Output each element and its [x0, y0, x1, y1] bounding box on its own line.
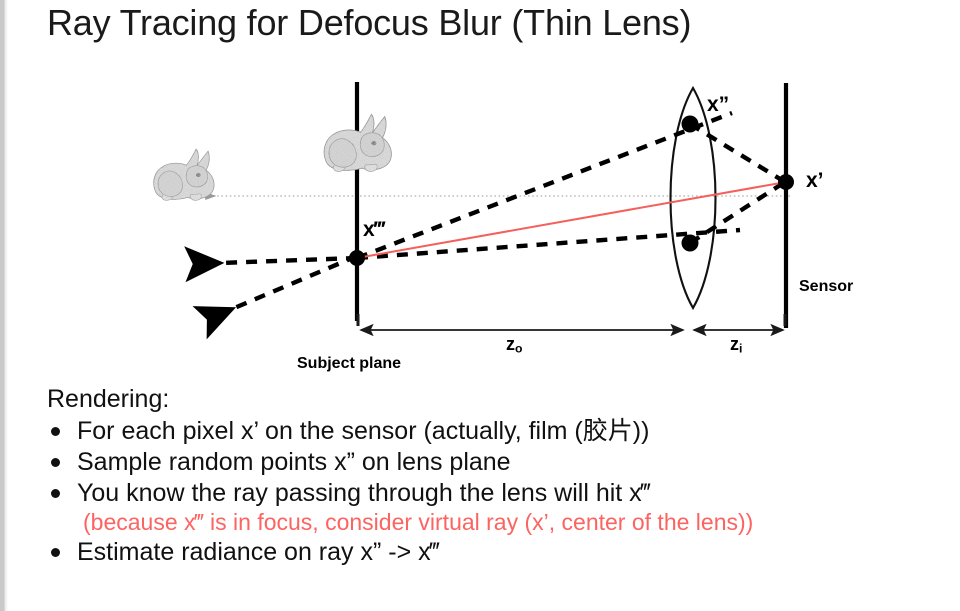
label-x-prime: x’ [806, 170, 824, 191]
label-z-image-subscript: i [739, 342, 742, 356]
virtual-ray-red [357, 182, 786, 258]
bullet-dot-icon [51, 458, 60, 467]
label-z-image: zi [730, 335, 742, 355]
bunny-in-focus [324, 114, 391, 171]
list-item-text: You know the ray passing through the len… [77, 479, 651, 507]
list-item-text: Sample random points x” on lens plane [77, 448, 511, 476]
label-subject-plane: Subject plane [297, 356, 401, 372]
label-z-image-base: z [730, 334, 739, 354]
dashed-ray-focus-to-upper-lens [357, 113, 732, 258]
list-item-note: (because x‴ is in focus, consider virtua… [77, 508, 947, 536]
bullet-dot-icon [51, 489, 60, 498]
slide-canvas: Ray Tracing for Defocus Blur (Thin Lens) [0, 0, 960, 611]
bullet-dot-icon [51, 427, 60, 436]
lens-sample-point-lower [682, 235, 699, 252]
dashed-ray-extension-left-lower [232, 256, 357, 309]
slide-left-edge-strip [0, 0, 8, 611]
label-x-triple-prime: x‴ [363, 219, 385, 240]
label-x-double-prime: x” [707, 94, 729, 115]
bullet-list: For each pixel x’ on the sensor (actuall… [47, 416, 947, 567]
dashed-ray-extension-left-upper [220, 258, 357, 263]
list-item: You know the ray passing through the len… [47, 478, 947, 536]
dashed-ray-lower-to-sensor [690, 182, 785, 243]
page-title: Ray Tracing for Defocus Blur (Thin Lens) [47, 2, 691, 44]
focus-point [349, 250, 365, 266]
label-sensor: Sensor [799, 279, 853, 295]
label-z-object-subscript: o [515, 342, 522, 356]
list-item: Estimate radiance on ray x” -> x‴ [47, 537, 947, 567]
label-z-object: zo [506, 335, 522, 355]
list-item-text: Estimate radiance on ray x” -> x‴ [77, 538, 439, 566]
lens-ellipse [671, 88, 716, 308]
list-item: For each pixel x’ on the sensor (actuall… [47, 416, 947, 446]
label-z-object-base: z [506, 334, 515, 354]
rendering-heading: Rendering: [47, 385, 947, 415]
sensor-pixel-point [778, 174, 794, 190]
dashed-ray-upper-to-sensor [690, 124, 785, 182]
bullet-dot-icon [51, 548, 60, 557]
lens-sample-point-upper [682, 116, 699, 133]
list-item: Sample random points x” on lens plane [47, 447, 947, 477]
list-item-text: For each pixel x’ on the sensor (actuall… [77, 417, 649, 445]
dashed-ray-focus-to-lower-lens [357, 230, 740, 258]
body-text-block: Rendering: For each pixel x’ on the sens… [47, 385, 947, 568]
bunny-out-of-focus [154, 149, 214, 200]
